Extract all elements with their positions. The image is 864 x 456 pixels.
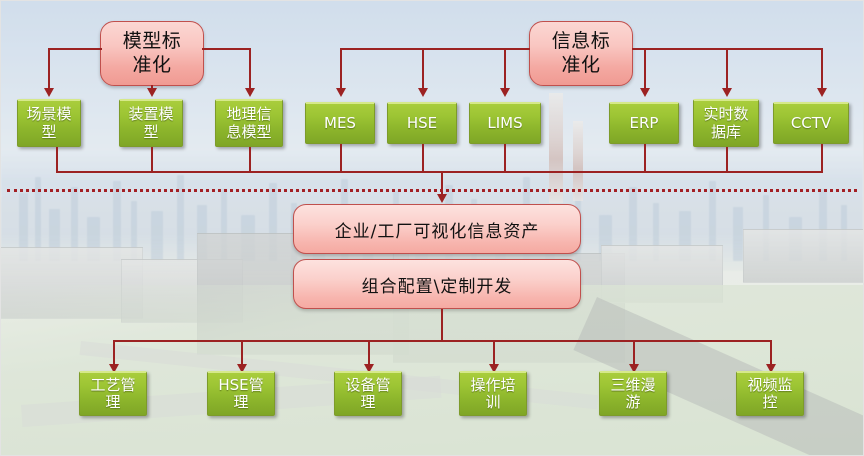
- application-node-3d-roaming[interactable]: 三维漫游: [599, 371, 667, 416]
- arrow-info-to-erp: [640, 88, 650, 97]
- collector-riser-erp: [644, 144, 646, 173]
- connector-model-bus-left: [48, 48, 102, 50]
- source-node-scene-model[interactable]: 场景模型: [17, 99, 81, 147]
- arrow-info-to-hse: [418, 88, 428, 97]
- source-node-lims-label: LIMS: [487, 115, 522, 132]
- group-title-model-text: 模型标 准化: [123, 30, 182, 78]
- application-node-video-surveillance-label: 视频监控: [747, 377, 792, 412]
- connector-info-drop-rtdb: [726, 48, 728, 90]
- application-node-equipment-management[interactable]: 设备管理: [334, 371, 402, 416]
- application-node-operator-training-label: 操作培训: [470, 377, 515, 412]
- application-node-hse-management-label: HSE管理: [218, 377, 263, 412]
- arrow-info-to-realtime-db: [722, 88, 732, 97]
- layer-divider: [7, 189, 857, 192]
- app-drop-video: [770, 340, 772, 366]
- arrow-model-to-gis-model: [245, 88, 255, 97]
- collector-riser-cctv: [821, 144, 823, 173]
- connector-model-bus-right: [202, 48, 250, 50]
- source-node-gis-model-label: 地理信息模型: [226, 106, 271, 141]
- application-bus: [113, 340, 772, 342]
- platform-node-visual-info-asset[interactable]: 企业/工厂可视化信息资产: [293, 204, 581, 254]
- source-node-hse-label: HSE: [407, 115, 437, 132]
- source-node-realtime-db[interactable]: 实时数据库: [693, 99, 759, 147]
- arrow-info-to-cctv: [817, 88, 827, 97]
- connector-model-drop-1: [48, 48, 50, 90]
- source-node-erp[interactable]: ERP: [609, 102, 679, 144]
- platform-node-config-custom-dev[interactable]: 组合配置\定制开发: [293, 259, 581, 309]
- source-node-lims[interactable]: LIMS: [469, 102, 541, 144]
- arrow-bus-to-platform: [437, 194, 447, 203]
- connector-info-drop-erp: [644, 48, 646, 90]
- connector-platform-to-app-bus: [441, 309, 443, 342]
- source-node-cctv-label: CCTV: [791, 115, 831, 132]
- collector-riser-scene-model: [56, 147, 58, 173]
- connector-info-drop-hse: [422, 48, 424, 90]
- arrow-model-to-device-model: [147, 88, 157, 97]
- app-drop-training: [493, 340, 495, 366]
- source-node-hse[interactable]: HSE: [387, 102, 457, 144]
- source-node-mes[interactable]: MES: [305, 102, 375, 144]
- application-node-process-management-label: 工艺管理: [90, 377, 135, 412]
- app-drop-roaming: [633, 340, 635, 366]
- arrow-info-to-mes: [336, 88, 346, 97]
- source-node-realtime-db-label: 实时数据库: [703, 106, 748, 141]
- collector-riser-device-model: [151, 147, 153, 173]
- collector-riser-lims: [504, 144, 506, 173]
- connector-model-drop-3: [249, 48, 251, 90]
- diagram-canvas: 模型标 准化 信息标 准化 场景模型 装置模型 地理信息模型: [0, 0, 864, 456]
- source-node-scene-model-label: 场景模型: [26, 106, 71, 141]
- group-title-model-standardization[interactable]: 模型标 准化: [100, 21, 204, 86]
- connector-info-bus-left: [340, 48, 530, 50]
- collector-bus: [56, 171, 823, 173]
- source-node-gis-model[interactable]: 地理信息模型: [215, 99, 283, 147]
- connector-info-drop-mes: [340, 48, 342, 90]
- arrow-info-to-lims: [500, 88, 510, 97]
- collector-riser-realtime-db: [726, 147, 728, 173]
- connector-bus-to-platform: [441, 171, 443, 196]
- arrow-model-to-scene-model: [44, 88, 54, 97]
- connector-info-drop-cctv: [821, 48, 823, 90]
- application-node-video-surveillance[interactable]: 视频监控: [736, 371, 804, 416]
- group-title-information-text: 信息标 准化: [552, 30, 611, 78]
- application-node-hse-management[interactable]: HSE管理: [207, 371, 275, 416]
- collector-riser-mes: [340, 144, 342, 173]
- app-drop-process: [113, 340, 115, 366]
- collector-riser-hse: [422, 144, 424, 173]
- platform-node-config-custom-dev-label: 组合配置\定制开发: [362, 272, 513, 297]
- platform-node-visual-info-asset-label: 企业/工厂可视化信息资产: [335, 217, 540, 242]
- app-drop-equipment: [368, 340, 370, 366]
- group-title-information-standardization[interactable]: 信息标 准化: [529, 21, 633, 86]
- source-node-erp-label: ERP: [630, 115, 659, 132]
- application-node-operator-training[interactable]: 操作培训: [459, 371, 527, 416]
- application-node-process-management[interactable]: 工艺管理: [79, 371, 147, 416]
- source-node-device-model-label: 装置模型: [128, 106, 173, 141]
- connector-info-drop-lims: [504, 48, 506, 90]
- app-drop-hse: [241, 340, 243, 366]
- source-node-mes-label: MES: [324, 115, 356, 132]
- collector-riser-gis-model: [249, 147, 251, 173]
- source-node-cctv[interactable]: CCTV: [773, 102, 849, 144]
- application-node-3d-roaming-label: 三维漫游: [610, 377, 655, 412]
- source-node-device-model[interactable]: 装置模型: [119, 99, 183, 147]
- application-node-equipment-management-label: 设备管理: [345, 377, 390, 412]
